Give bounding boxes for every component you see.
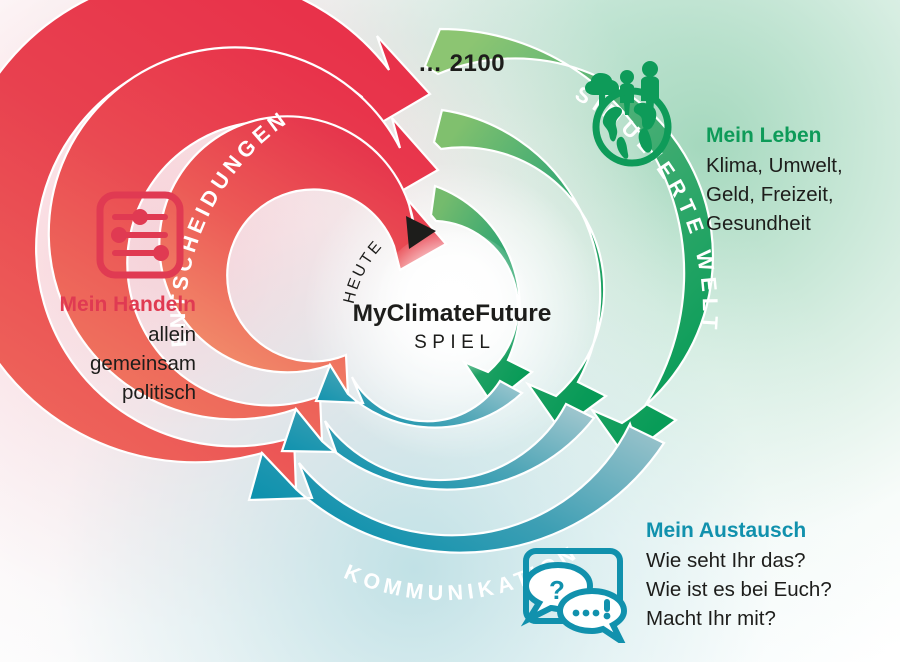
block-line: Wie seht Ihr das? xyxy=(646,547,900,574)
block-heading-leben: Mein Leben xyxy=(706,123,900,150)
block-line: gemeinsam xyxy=(0,350,196,377)
block-heading-austausch: Mein Austausch xyxy=(646,518,900,545)
block-heading-handeln: Mein Handeln xyxy=(0,292,196,319)
block-mein-handeln: Mein Handeln allein gemeinsam politisch xyxy=(0,292,196,407)
page-subtitle: SPIEL xyxy=(296,332,608,354)
block-line: politisch xyxy=(0,379,196,406)
block-line: allein xyxy=(0,321,196,348)
sliders-icon xyxy=(95,190,185,280)
speech-bubbles-icon: ? xyxy=(512,543,634,643)
block-line: Macht Ihr mit? xyxy=(646,605,900,632)
block-line: Klima, Umwelt, xyxy=(706,152,900,179)
future-year-label: … 2100 xyxy=(418,50,505,78)
page-title: MyClimateFuture xyxy=(296,300,608,328)
block-mein-leben: Mein Leben Klima, Umwelt, Geld, Freizeit… xyxy=(706,123,900,238)
block-line: Gesundheit xyxy=(706,210,900,237)
block-mein-austausch: Mein Austausch Wie seht Ihr das? Wie ist… xyxy=(646,518,900,633)
block-line: Wie ist es bei Euch? xyxy=(646,576,900,603)
infographic-canvas: ENTSCHEIDUNGEN SIMULIERTE WELT KOMMUNIKA… xyxy=(0,0,900,662)
block-line: Geld, Freizeit, xyxy=(706,181,900,208)
globe-people-icon xyxy=(580,55,698,173)
